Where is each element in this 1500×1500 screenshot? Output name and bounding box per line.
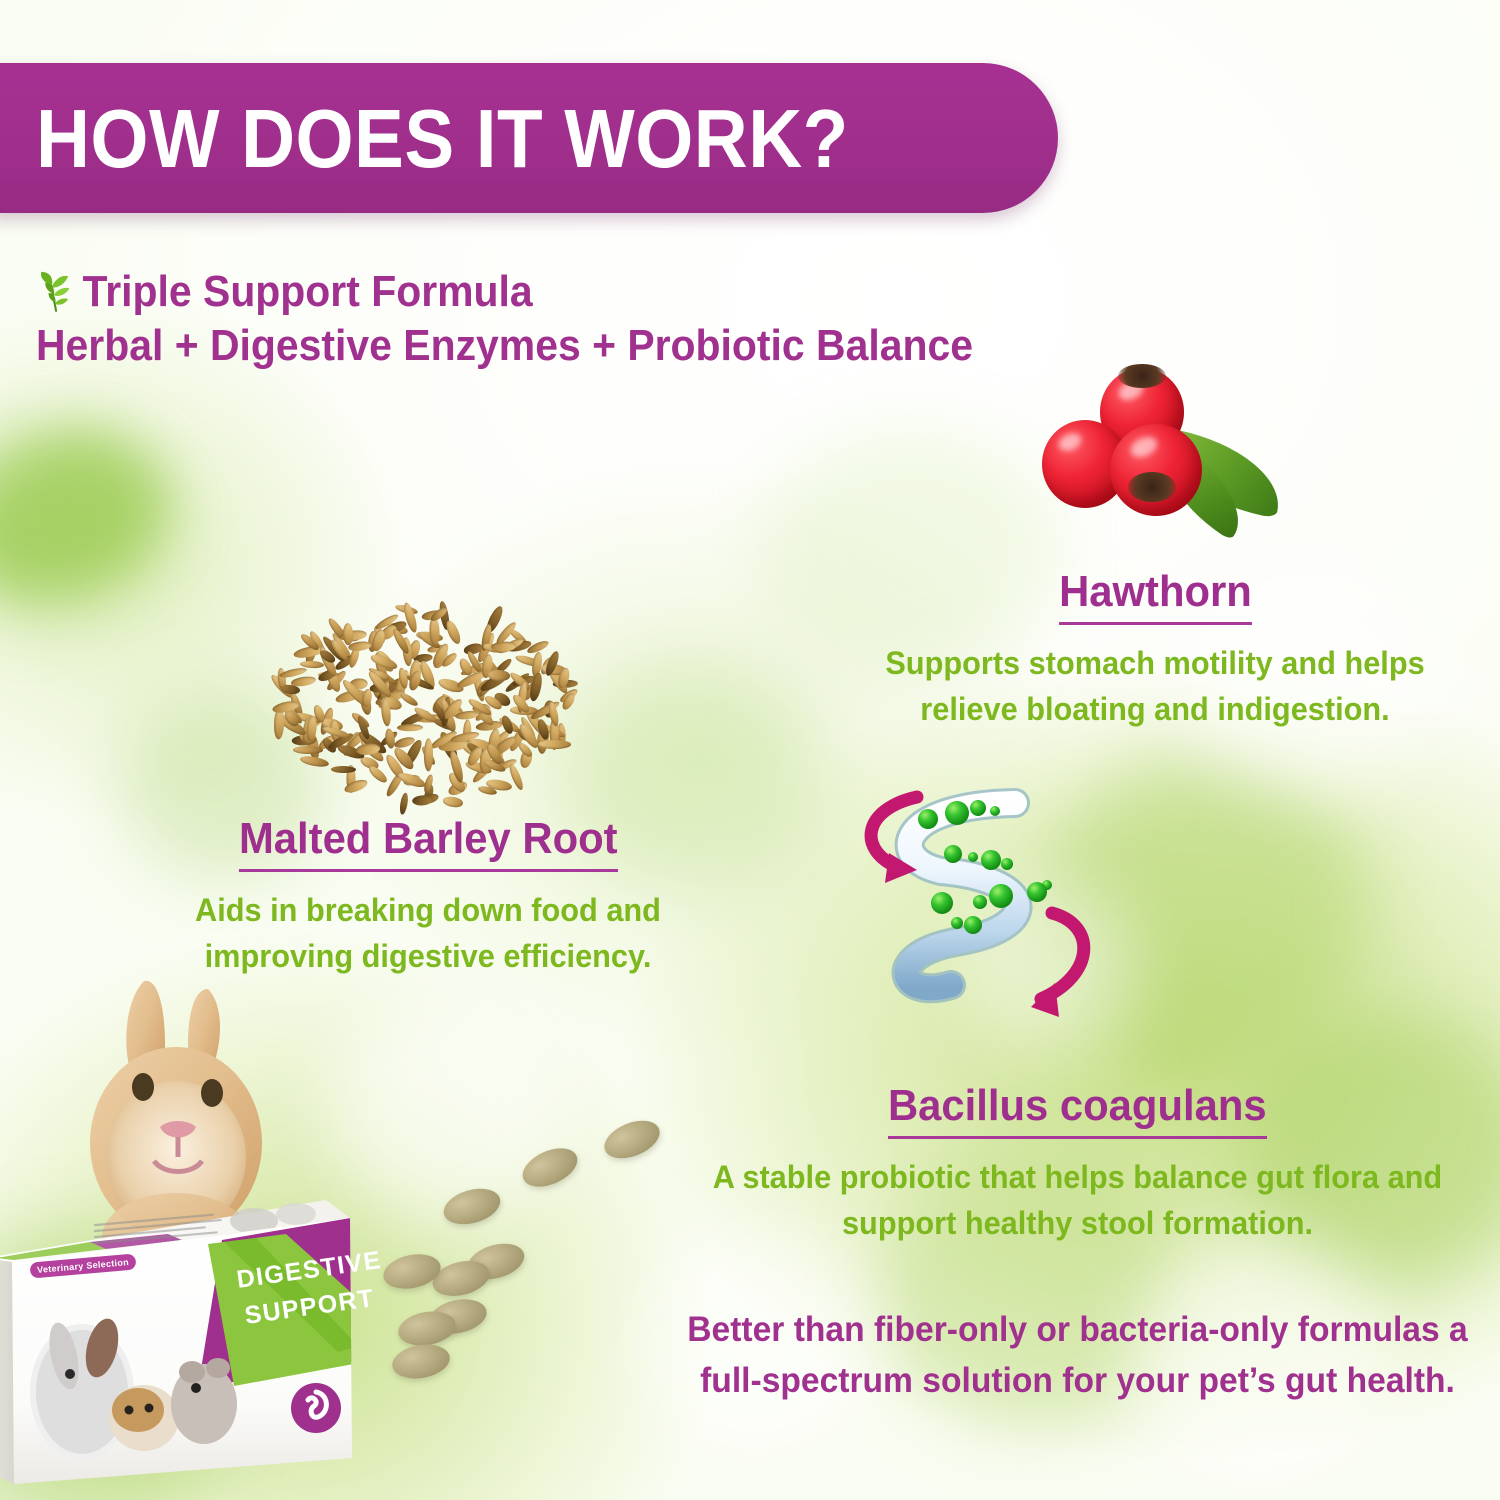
page-title: HOW DOES IT WORK? bbox=[36, 97, 849, 180]
footnote-text: Better than fiber-only or bacteria-only … bbox=[672, 1305, 1483, 1407]
hawthorn-berries-image bbox=[1010, 362, 1290, 562]
herb-leaf-icon bbox=[36, 269, 79, 315]
ingredient-card-bacillus: Bacillus coagulans A stable probiotic th… bbox=[655, 1082, 1500, 1246]
ingredient-card-hawthorn: Hawthorn Supports stomach motility and h… bbox=[835, 568, 1475, 732]
ingredient-desc-barley: Aids in breaking down food and improving… bbox=[140, 888, 716, 979]
ingredient-title-barley: Malted Barley Root bbox=[239, 815, 618, 872]
subtitle-text-1: Triple Support Formula bbox=[83, 265, 533, 319]
malted-barley-grains-image bbox=[268, 600, 578, 810]
product-box-image: DIGESTIVE SUPPORT Veterinary Selection bbox=[0, 1196, 386, 1500]
ingredient-desc-hawthorn: Supports stomach motility and helps reli… bbox=[848, 641, 1462, 732]
ingredient-desc-bacillus: A stable probiotic that helps balance gu… bbox=[672, 1155, 1483, 1246]
subtitle-line-1: Triple Support Formula bbox=[36, 265, 966, 319]
ingredient-title-hawthorn: Hawthorn bbox=[1059, 568, 1252, 625]
subtitle-block: Triple Support Formula Herbal + Digestiv… bbox=[36, 265, 1036, 373]
subtitle-line-2: Herbal + Digestive Enzymes + Probiotic B… bbox=[36, 319, 966, 373]
header-banner: HOW DOES IT WORK? bbox=[0, 63, 1058, 213]
probiotic-spiral-image bbox=[845, 775, 1120, 1055]
ingredient-title-bacillus: Bacillus coagulans bbox=[888, 1082, 1267, 1139]
infographic-canvas: HOW DOES IT WORK? Triple Support Formula… bbox=[0, 0, 1500, 1500]
ingredient-card-barley: Malted Barley Root Aids in breaking down… bbox=[128, 815, 728, 979]
